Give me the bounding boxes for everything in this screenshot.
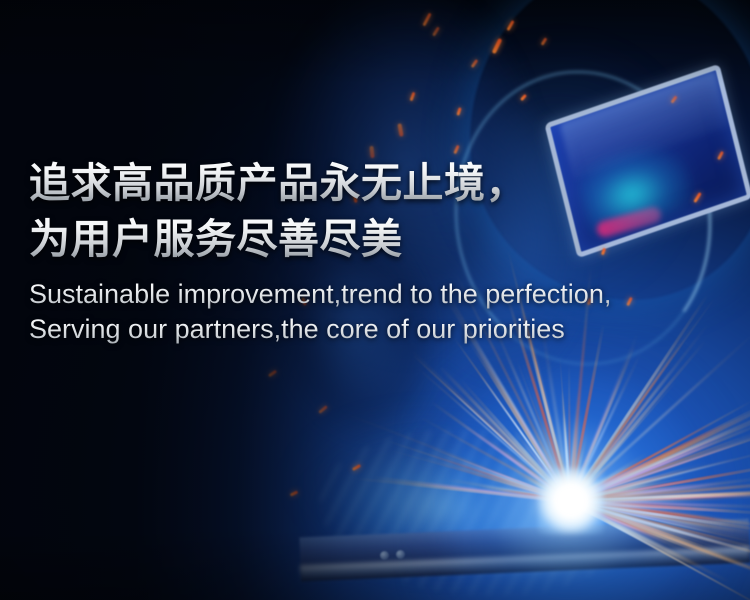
promo-banner: 追求高品质产品永无止境， 为用户服务尽善尽美 Sustainable impro… (0, 0, 750, 600)
headline-cn-line-1: 追求高品质产品永无止境， (29, 155, 729, 211)
headline-cn-line-2: 为用户服务尽善尽美 (29, 211, 729, 267)
subhead-en-line-2: Serving our partners,the core of our pri… (29, 312, 729, 347)
subhead-en-line-1: Sustainable improvement,trend to the per… (29, 277, 729, 312)
banner-copy: 追求高品质产品永无止境， 为用户服务尽善尽美 Sustainable impro… (29, 155, 729, 347)
